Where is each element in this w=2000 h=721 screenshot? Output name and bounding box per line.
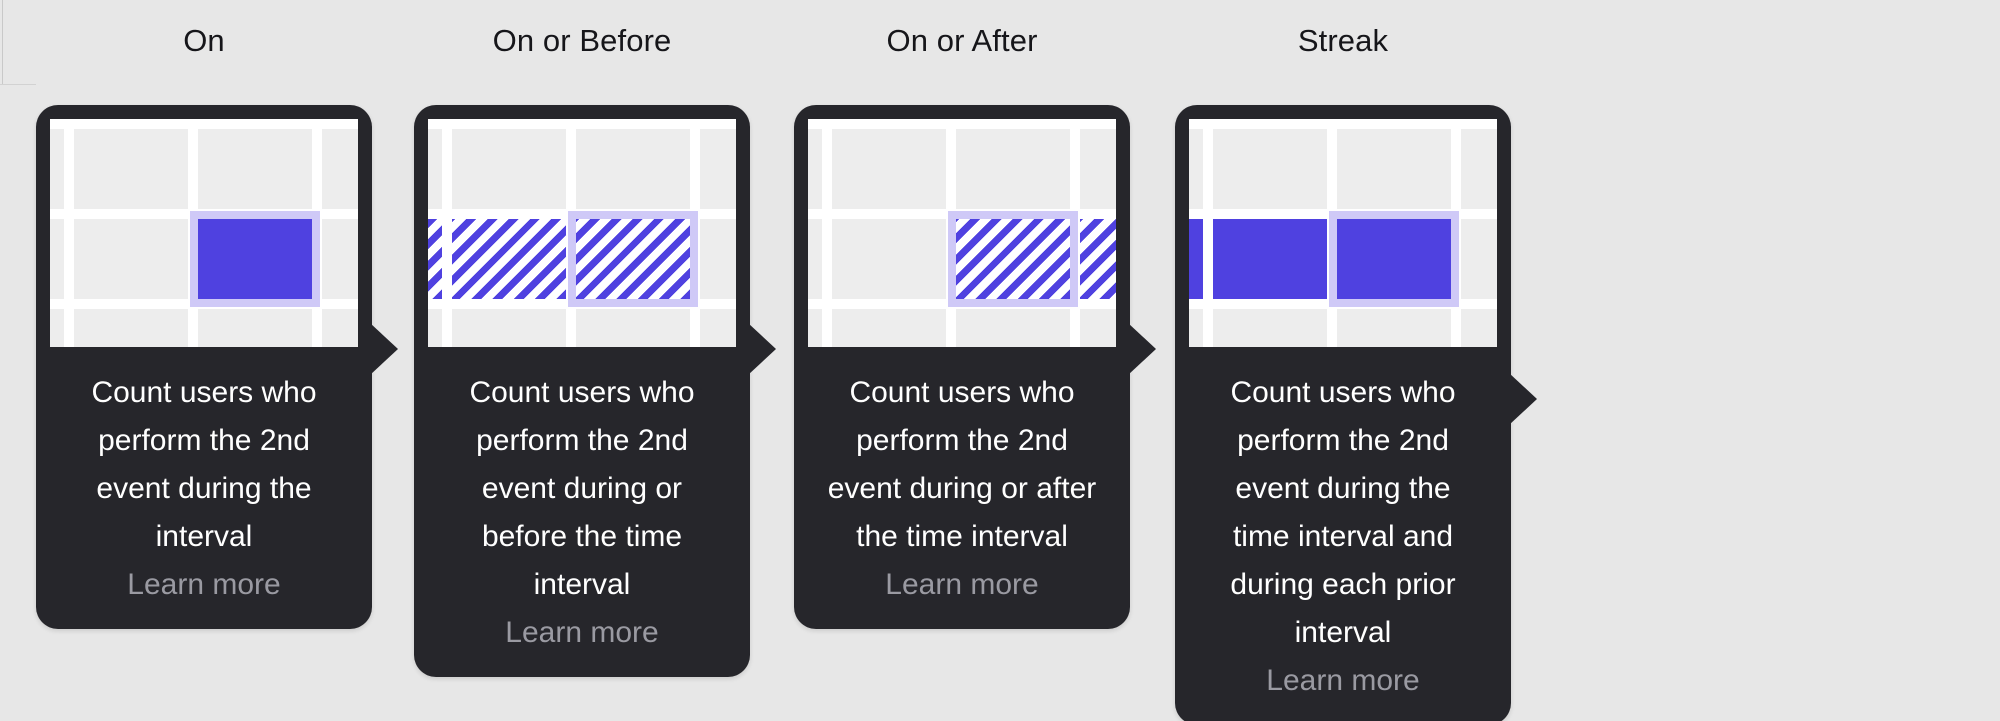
pointer-arrow-icon [748,323,776,375]
card-description-wrapper: Count users who perform the 2nd event du… [1189,347,1497,721]
column-header-streak: Streak [1175,22,1511,60]
column-header-on: On [36,22,372,60]
card-description: Count users who perform the 2nd event du… [469,376,694,601]
learn-more-link[interactable]: Learn more [444,609,720,657]
grid-cell [832,129,946,209]
grid-cell [576,129,690,209]
highlighted-cell [1337,219,1451,299]
comparison-board: On On or Before On or After Streak [0,0,2000,721]
grid-cell [832,219,946,299]
grid-cell [1461,129,1497,209]
grid-cell [1337,129,1451,209]
card-description: Count users who perform the 2nd event du… [1230,376,1455,649]
hatched-cell [428,219,442,299]
grid-cell [1080,309,1116,347]
card-on[interactable]: Count users who perform the 2nd event du… [36,105,372,629]
interval-grid [50,119,358,347]
grid-cell [74,129,188,209]
hatched-cell [452,219,566,299]
card-description: Count users who perform the 2nd event du… [828,376,1097,553]
grid-cell [956,129,1070,209]
grid-cell [808,309,822,347]
interval-grid [428,119,736,347]
card-on-or-before[interactable]: Count users who perform the 2nd event du… [414,105,750,677]
grid-cell [1461,219,1497,299]
highlighted-cell [956,219,1070,299]
learn-more-link[interactable]: Learn more [1205,657,1481,705]
grid-cell [74,219,188,299]
grid-cell [452,309,566,347]
learn-more-link[interactable]: Learn more [824,561,1100,609]
grid-cell [808,129,822,209]
viz-on-or-before [428,119,736,347]
card-on-or-after[interactable]: Count users who perform the 2nd event du… [794,105,1130,629]
grid-cell [452,129,566,209]
viz-on [50,119,358,347]
grid-cell [832,309,946,347]
grid-cell [198,129,312,209]
pointer-arrow-icon [370,323,398,375]
grid-cell [50,129,64,209]
column-header-on-or-after: On or After [794,22,1130,60]
learn-more-link[interactable]: Learn more [66,561,342,609]
grid-cell [1337,309,1451,347]
grid-cell [322,129,358,209]
card-description-wrapper: Count users who perform the 2nd event du… [50,347,358,629]
grid-cell [576,309,690,347]
grid-cell [700,219,736,299]
header-divider [0,84,36,85]
grid-cell [700,309,736,347]
grid-cell [1461,309,1497,347]
grid-cell [74,309,188,347]
grid-cell [322,219,358,299]
interval-grid [808,119,1116,347]
filled-cell [1189,219,1203,299]
grid-cell [50,309,64,347]
grid-cell [1080,129,1116,209]
card-streak[interactable]: Count users who perform the 2nd event du… [1175,105,1511,721]
highlighted-cell [576,219,690,299]
grid-cell [428,129,442,209]
column-headers: On On or Before On or After Streak [0,0,2000,84]
grid-cell [700,129,736,209]
grid-cell [1189,309,1203,347]
grid-cell [198,309,312,347]
column-header-on-or-before: On or Before [414,22,750,60]
highlighted-cell [198,219,312,299]
grid-cell [322,309,358,347]
pointer-arrow-icon [1509,373,1537,425]
grid-cell [808,219,822,299]
grid-cell [956,309,1070,347]
grid-cell [1189,129,1203,209]
grid-cell [1213,309,1327,347]
interval-grid [1189,119,1497,347]
filled-cell [1213,219,1327,299]
grid-cell [50,219,64,299]
pointer-arrow-icon [1128,323,1156,375]
card-description-wrapper: Count users who perform the 2nd event du… [808,347,1116,629]
hatched-cell [1080,219,1116,299]
card-description: Count users who perform the 2nd event du… [91,376,316,553]
grid-cell [1213,129,1327,209]
grid-cell [428,309,442,347]
viz-on-or-after [808,119,1116,347]
viz-streak [1189,119,1497,347]
card-description-wrapper: Count users who perform the 2nd event du… [428,347,736,677]
